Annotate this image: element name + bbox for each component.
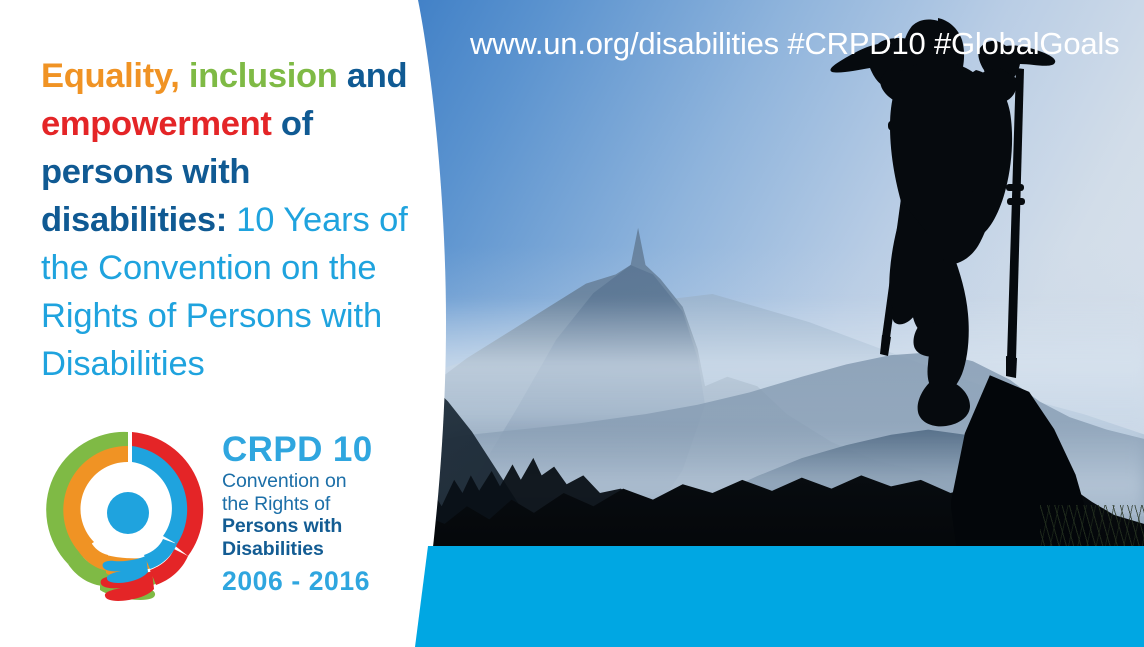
hiker-silhouette-icon [770, 8, 1080, 468]
logo-title: CRPD 10 [222, 430, 412, 470]
footer-url-text: www.un.org/disabilities #CRPD10 #GlobalG… [470, 26, 1119, 62]
logo-line-1: Convention on [222, 470, 412, 493]
page-title: Equality, inclusion and empowerment of p… [41, 52, 433, 388]
headline-word-inclusion: inclusion [189, 57, 338, 95]
logo-line-2: the Rights of [222, 493, 412, 516]
crpd-logo-text: CRPD 10 Convention on the Rights of Pers… [222, 430, 412, 598]
headline-word-empowerment: empowerment [41, 105, 272, 143]
crpd-logo: CRPD 10 Convention on the Rights of Pers… [44, 420, 404, 620]
poster-canvas: Equality, inclusion and empowerment of p… [0, 0, 1144, 647]
headline-word-equality: Equality, [41, 57, 180, 95]
logo-line-3: Persons with [222, 515, 412, 538]
headline-word-and: and [347, 57, 407, 95]
logo-line-4: Disabilities [222, 538, 412, 561]
crpd-emblem-icon [44, 426, 216, 611]
logo-years: 2006 - 2016 [222, 564, 412, 598]
headline-word-disabilities: disabilities: [41, 201, 227, 239]
